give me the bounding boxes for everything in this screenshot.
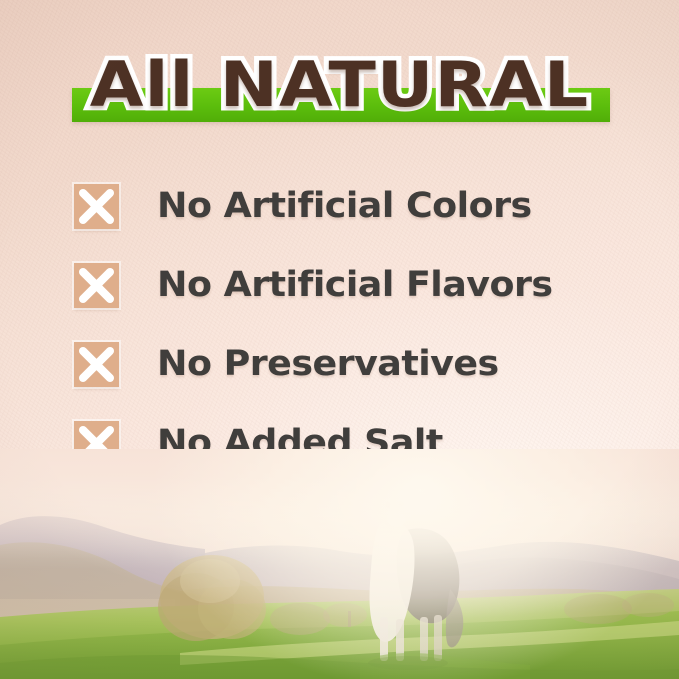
page-title: All NATURAL bbox=[0, 50, 679, 120]
list-item: No Preservatives bbox=[74, 341, 634, 387]
claim-label: No Artificial Flavors bbox=[157, 263, 553, 308]
x-mark-icon bbox=[74, 184, 119, 229]
x-mark-icon bbox=[74, 342, 119, 387]
headline-banner: All NATURAL bbox=[0, 50, 679, 128]
lifestyle-photo bbox=[0, 449, 679, 679]
claim-label: No Artificial Colors bbox=[157, 184, 532, 229]
x-mark-icon bbox=[74, 263, 119, 308]
claim-label: No Preservatives bbox=[157, 342, 499, 387]
list-item: No Artificial Colors bbox=[74, 183, 634, 229]
all-natural-poster: All NATURAL No Artificial Colors bbox=[0, 0, 679, 679]
list-item: No Artificial Flavors bbox=[74, 262, 634, 308]
